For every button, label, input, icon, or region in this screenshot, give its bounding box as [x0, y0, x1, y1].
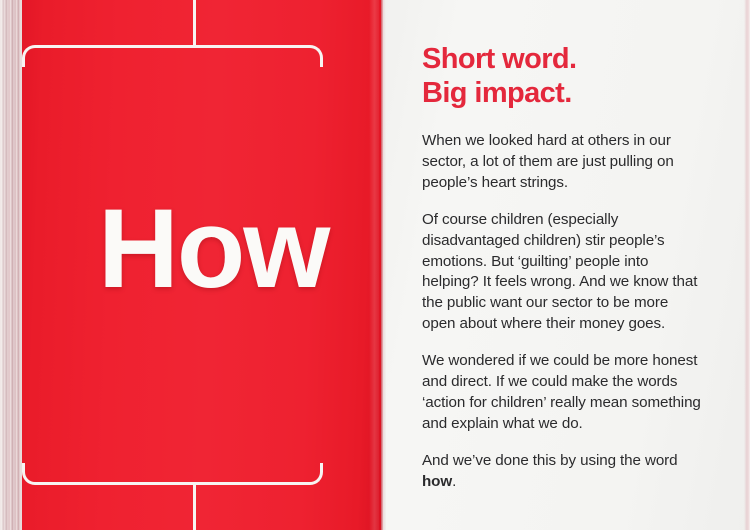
- tick-bottom-ornament: [193, 483, 196, 530]
- left-paper-edge: [0, 0, 22, 530]
- closing-bold-word: how: [422, 473, 452, 490]
- page-gutter: [381, 0, 386, 530]
- page-headline: Short word. Big impact.: [422, 0, 704, 110]
- book-spread: How Short word. Big impact. When we look…: [0, 0, 750, 530]
- paragraph-2: Of course children (especially disadvant…: [422, 210, 704, 334]
- paragraph-3: We wondered if we could be more honest a…: [422, 351, 704, 434]
- right-page-content: Short word. Big impact. When we looked h…: [422, 0, 704, 493]
- closing-suffix: .: [452, 473, 456, 490]
- big-word-how: How: [98, 193, 328, 305]
- bracket-top-ornament: [22, 45, 323, 67]
- bracket-bottom-ornament: [22, 463, 323, 485]
- right-paper-edge: [744, 0, 750, 530]
- tick-top-ornament: [193, 0, 196, 47]
- paragraph-closing: And we’ve done this by using the word ho…: [422, 451, 704, 492]
- closing-prefix: And we’ve done this by using the word: [422, 452, 678, 469]
- left-page-red-panel: How: [22, 0, 383, 530]
- headline-line-2: Big impact.: [422, 76, 704, 110]
- body-copy: When we looked hard at others in our sec…: [422, 110, 704, 492]
- headline-line-1: Short word.: [422, 43, 577, 75]
- paragraph-1: When we looked hard at others in our sec…: [422, 131, 704, 193]
